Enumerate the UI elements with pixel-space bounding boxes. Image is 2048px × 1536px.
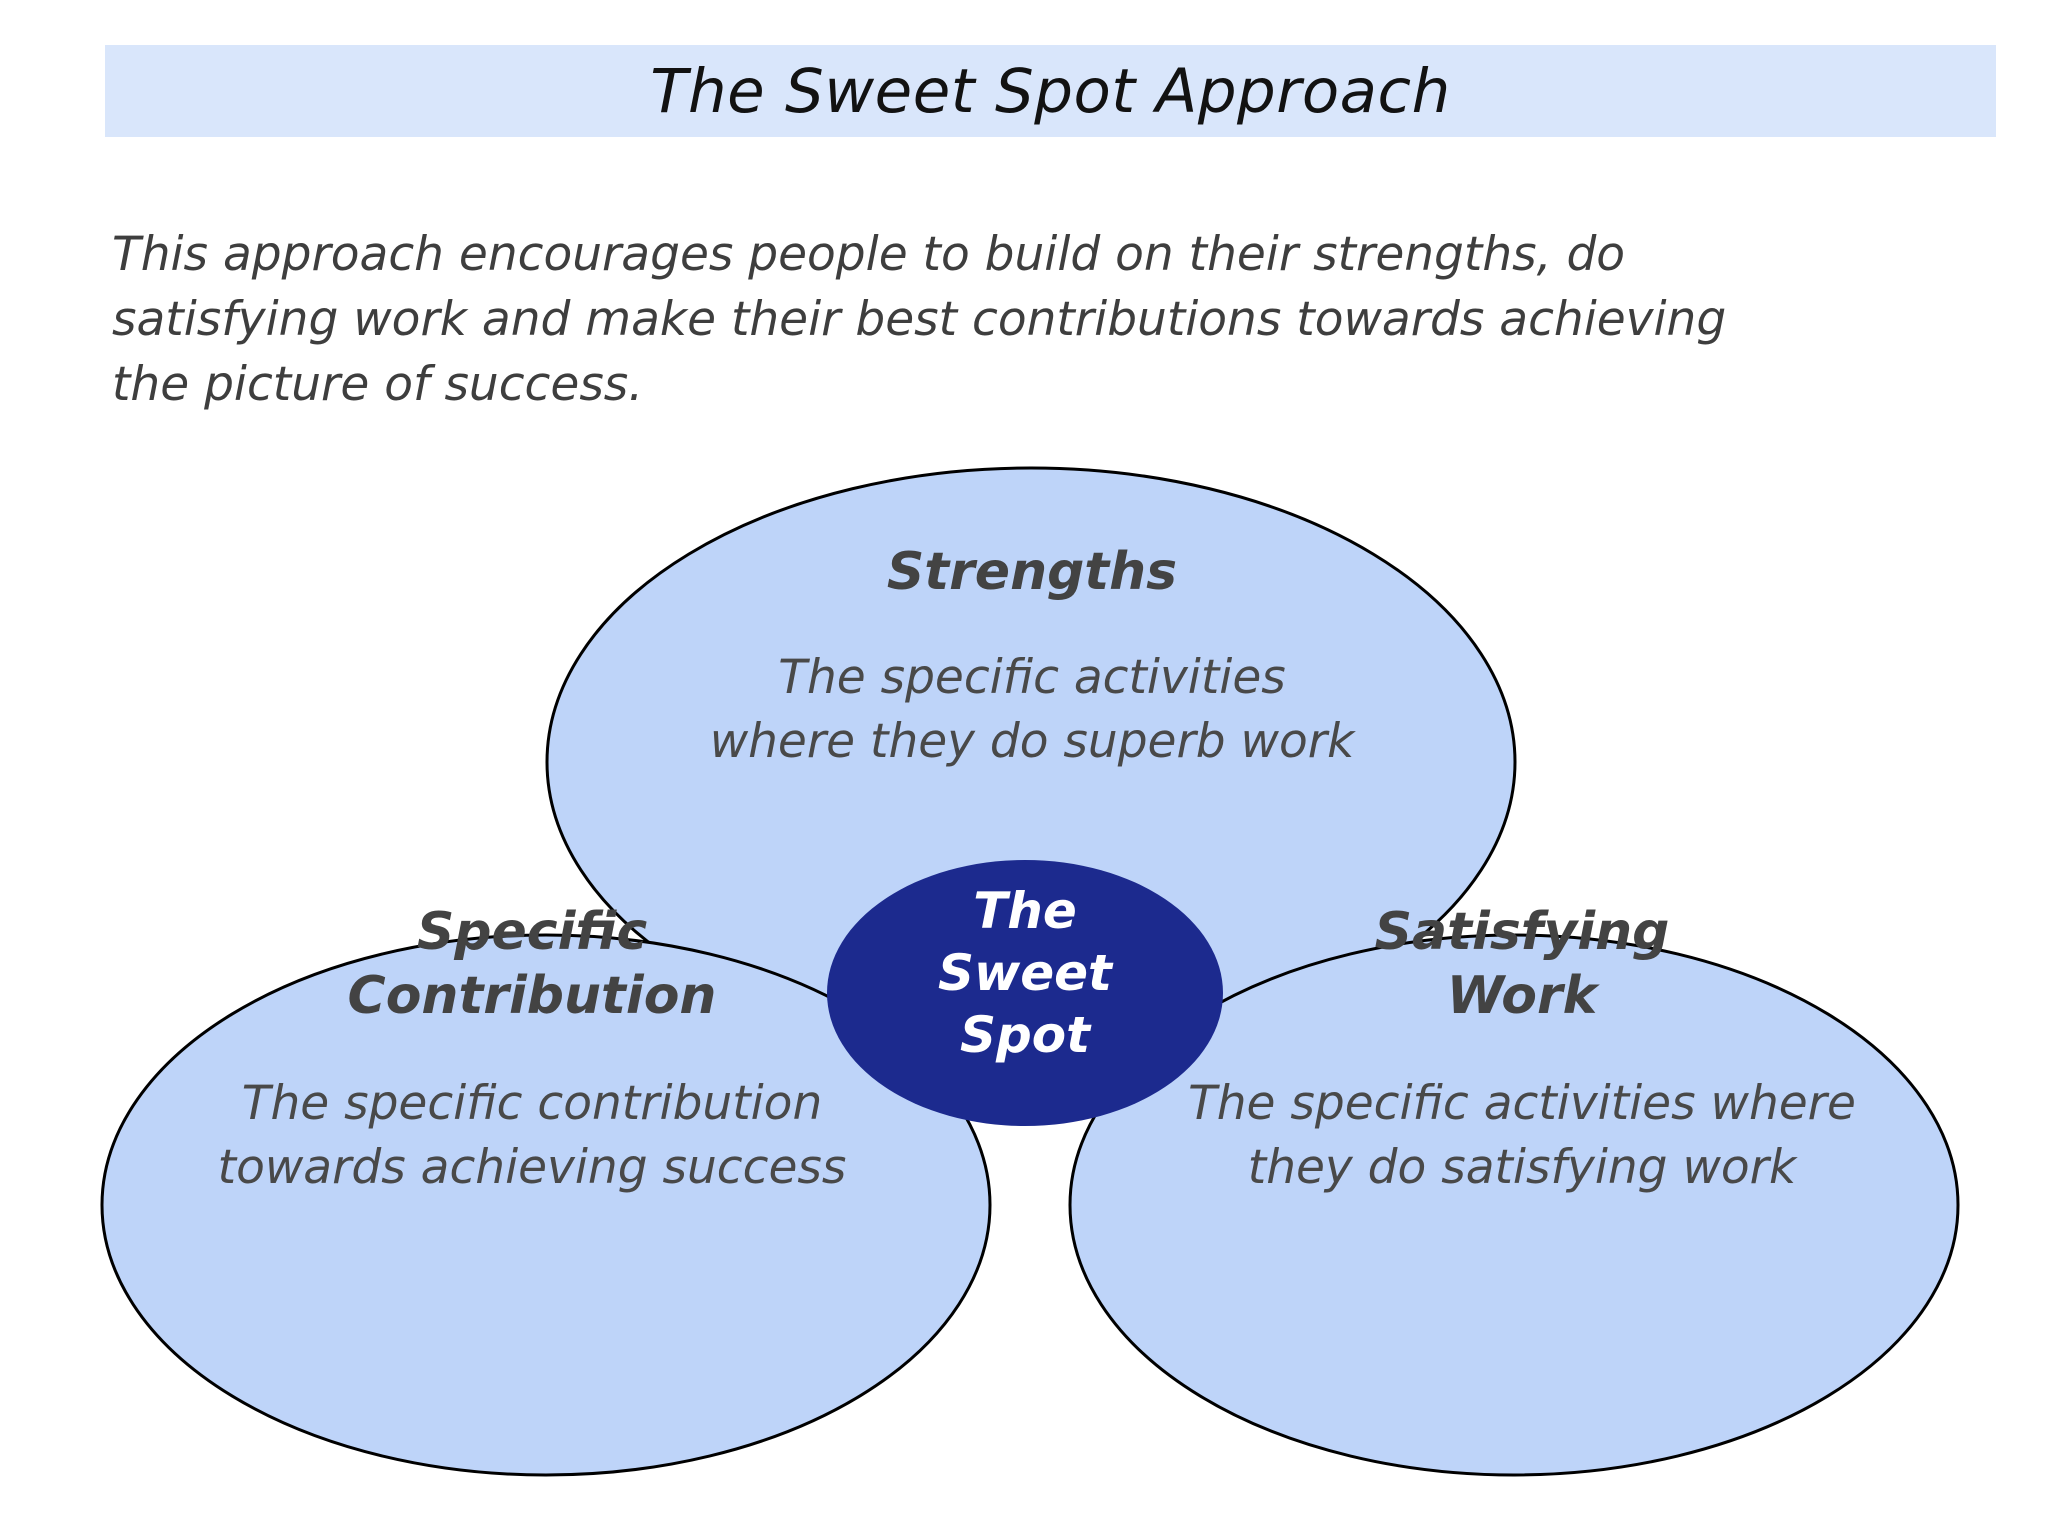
venn-center-label: The Sweet Spot [827, 880, 1223, 1066]
lobe-satisfying-work-text: Satisfying Work The specific activities … [1102, 900, 1942, 1200]
lobe-strengths-text: Strengths The specific activities where … [548, 540, 1516, 774]
lobe-specific-contribution-description: The specific contribution towards achiev… [112, 1072, 952, 1200]
lobe-specific-contribution-title: Specific Contribution [112, 900, 952, 1028]
slide-canvas: The Sweet Spot Approach This approach en… [0, 0, 2048, 1536]
lobe-satisfying-work-description: The specific activities where they do sa… [1102, 1072, 1942, 1200]
lobe-satisfying-work-title: Satisfying Work [1102, 900, 1942, 1028]
lobe-specific-contribution-text: Specific Contribution The specific contr… [112, 900, 952, 1200]
lobe-strengths-description: The specific activities where they do su… [548, 646, 1516, 774]
lobe-strengths-title: Strengths [548, 540, 1516, 604]
